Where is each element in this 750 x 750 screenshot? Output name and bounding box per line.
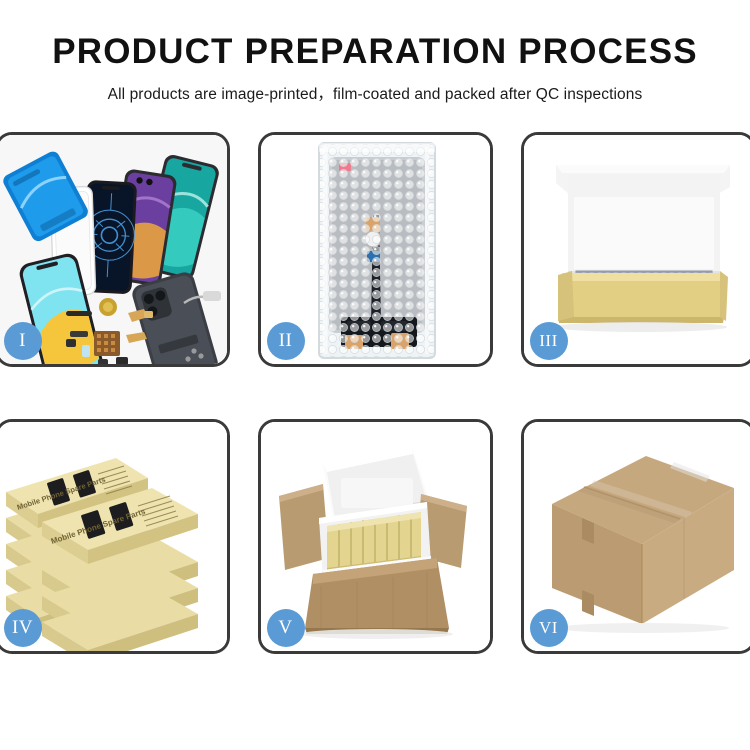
step-badge-3: III (530, 322, 568, 360)
panel-parts-overview: 9H (0, 132, 230, 367)
panel-open-inner-box: III (521, 132, 750, 367)
process-step-grid: 9H (0, 132, 750, 654)
step-badge-4: IV (4, 609, 42, 647)
product-preparation-infographic: PRODUCT PREPARATION PROCESS All products… (0, 0, 750, 750)
panel-bubble-wrapped-screen: II (258, 132, 493, 367)
step-badge-6: VI (530, 609, 568, 647)
step-badge-5: V (267, 609, 305, 647)
panel-sealed-shipping-carton: VI (521, 419, 750, 654)
header: PRODUCT PREPARATION PROCESS All products… (0, 0, 750, 104)
page-title: PRODUCT PREPARATION PROCESS (0, 34, 750, 71)
step-badge-2: II (267, 322, 305, 360)
step-badge-1: I (4, 322, 42, 360)
panel-carton-with-foam-liner: V (258, 419, 493, 654)
panel-stacked-retail-boxes: Mobile Phone Spare Parts (0, 419, 230, 654)
page-subtitle: All products are image-printed，film-coat… (0, 82, 750, 104)
